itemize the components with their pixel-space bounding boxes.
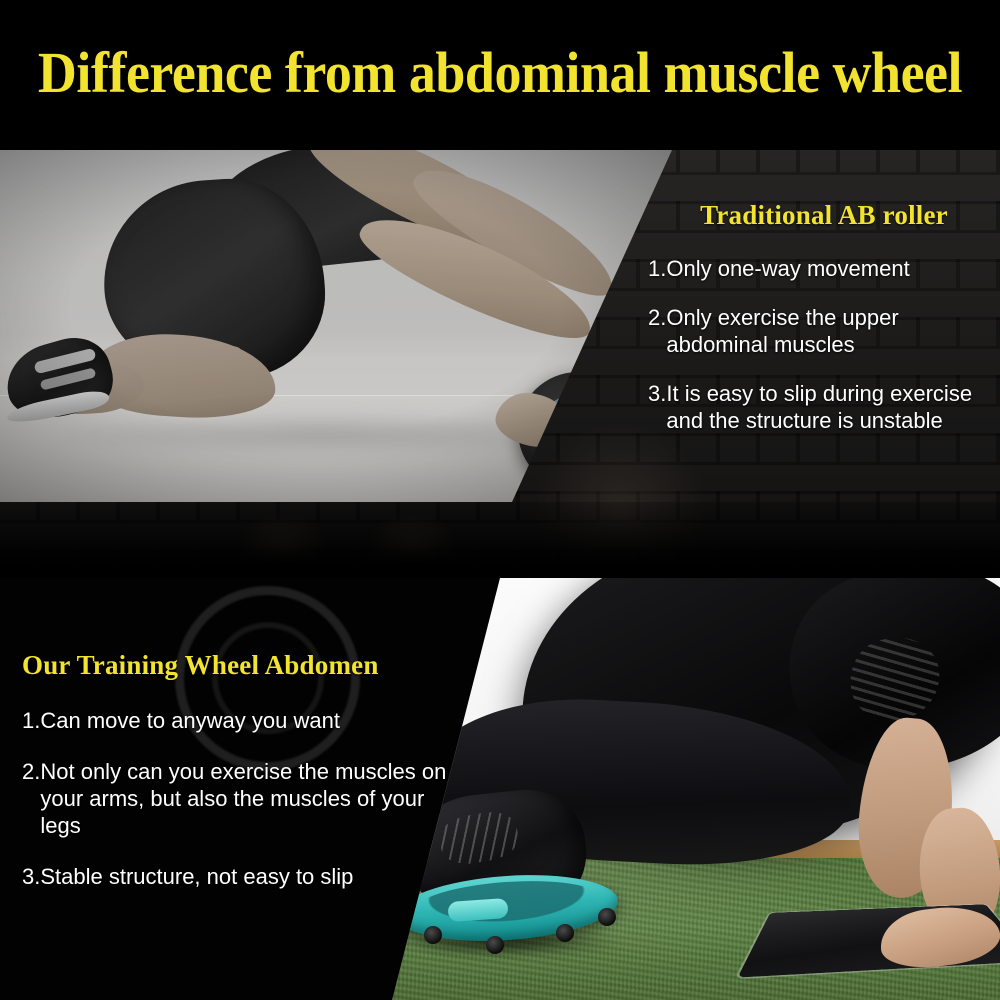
list-item-number: 2. (648, 304, 666, 358)
our-training-wheel-text: Our Training Wheel Abdomen 1. Can move t… (22, 650, 462, 914)
caster-wheel-icon (424, 926, 442, 944)
traditional-ab-roller-heading: Traditional AB roller (648, 200, 1000, 231)
list-item: 2. Not only can you exercise the muscles… (22, 758, 462, 839)
traditional-ab-roller-list: 1. Only one-way movement 2. Only exercis… (648, 255, 1000, 434)
caster-wheel-icon (556, 924, 574, 942)
list-item-text: Stable structure, not easy to slip (40, 863, 462, 890)
our-training-wheel-section: Our Training Wheel Abdomen 1. Can move t… (0, 578, 1000, 1000)
our-training-wheel-list: 1. Can move to anyway you want 2. Not on… (22, 707, 462, 890)
list-item: 1. Can move to anyway you want (22, 707, 462, 734)
list-item-text: Not only can you exercise the muscles on… (40, 758, 462, 839)
list-item-number: 1. (22, 707, 40, 734)
list-item-number: 1. (648, 255, 666, 282)
list-item-text: Only exercise the upper abdominal muscle… (666, 304, 1000, 358)
page-title: Difference from abdominal muscle wheel (35, 42, 965, 104)
title-bar: Difference from abdominal muscle wheel (0, 0, 1000, 150)
caster-wheel-icon (598, 908, 616, 926)
list-item-number: 2. (22, 758, 40, 839)
list-item: 3. It is easy to slip during exercise an… (648, 380, 1000, 434)
list-item: 2. Only exercise the upper abdominal mus… (648, 304, 1000, 358)
our-training-wheel-heading: Our Training Wheel Abdomen (22, 650, 462, 681)
list-item: 3. Stable structure, not easy to slip (22, 863, 462, 890)
list-item-text: It is easy to slip during exercise and t… (666, 380, 1000, 434)
list-item-text: Only one-way movement (666, 255, 1000, 282)
traditional-ab-roller-text: Traditional AB roller 1. Only one-way mo… (648, 200, 1000, 456)
traditional-ab-roller-section: Traditional AB roller 1. Only one-way mo… (0, 150, 1000, 578)
top-section-fade (0, 502, 1000, 578)
infographic-root: Difference from abdominal muscle wheel (0, 0, 1000, 1000)
list-item: 1. Only one-way movement (648, 255, 1000, 282)
caster-wheel-icon (486, 936, 504, 954)
list-item-number: 3. (648, 380, 666, 434)
list-item-number: 3. (22, 863, 40, 890)
list-item-text: Can move to anyway you want (40, 707, 462, 734)
